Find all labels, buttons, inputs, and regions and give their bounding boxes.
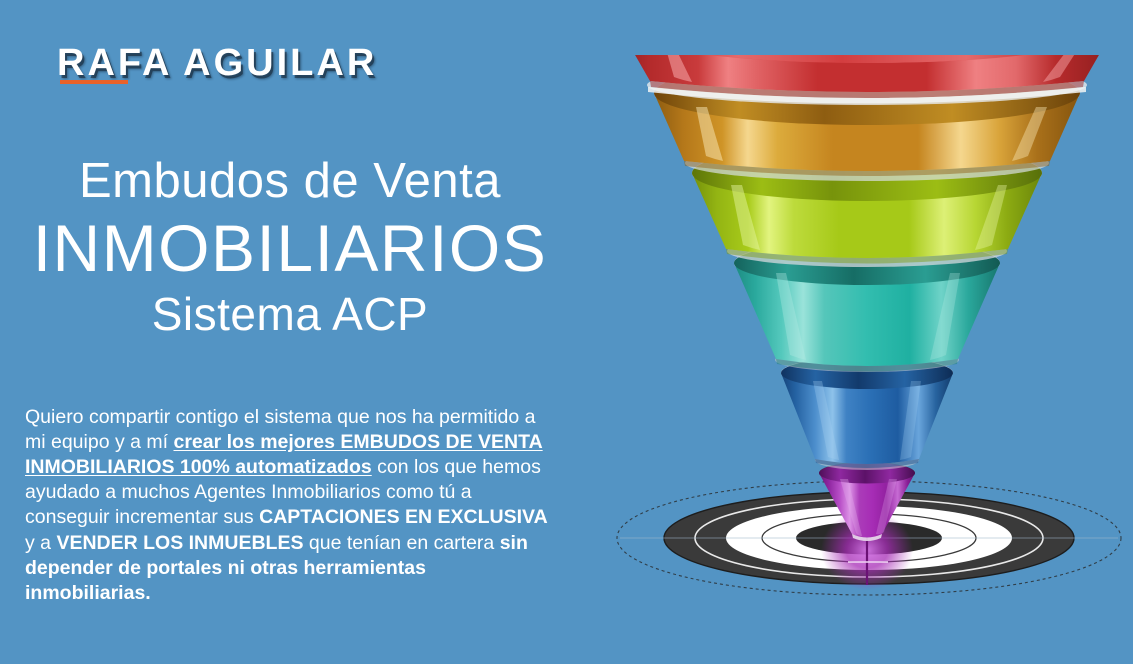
- page-title: Embudos de Venta INMOBILIARIOS Sistema A…: [0, 152, 580, 342]
- body-emphasis-3: VENDER LOS INMUEBLES: [56, 532, 303, 554]
- body-paragraph: Quiero compartir contigo el sistema que …: [25, 405, 555, 607]
- brand-logo-underline: [60, 80, 128, 84]
- brand-logo: RAFA AGUILAR: [57, 44, 377, 82]
- body-text-part-3: y a: [25, 532, 56, 554]
- body-text-part-4: que tenían en cartera: [303, 532, 499, 554]
- slide-canvas: RAFA AGUILAR Embudos de Venta INMOBILIAR…: [0, 0, 1133, 664]
- headline-line-3: Sistema ACP: [0, 286, 580, 342]
- body-emphasis-2: CAPTACIONES EN EXCLUSIVA: [259, 506, 548, 528]
- headline-line-1: Embudos de Venta: [0, 152, 580, 210]
- headline-line-2: INMOBILIARIOS: [0, 210, 580, 286]
- sales-funnel-graphic: [600, 55, 1133, 615]
- funnel-layer-blue: [781, 356, 953, 470]
- brand-logo-text: RAFA AGUILAR: [57, 44, 377, 82]
